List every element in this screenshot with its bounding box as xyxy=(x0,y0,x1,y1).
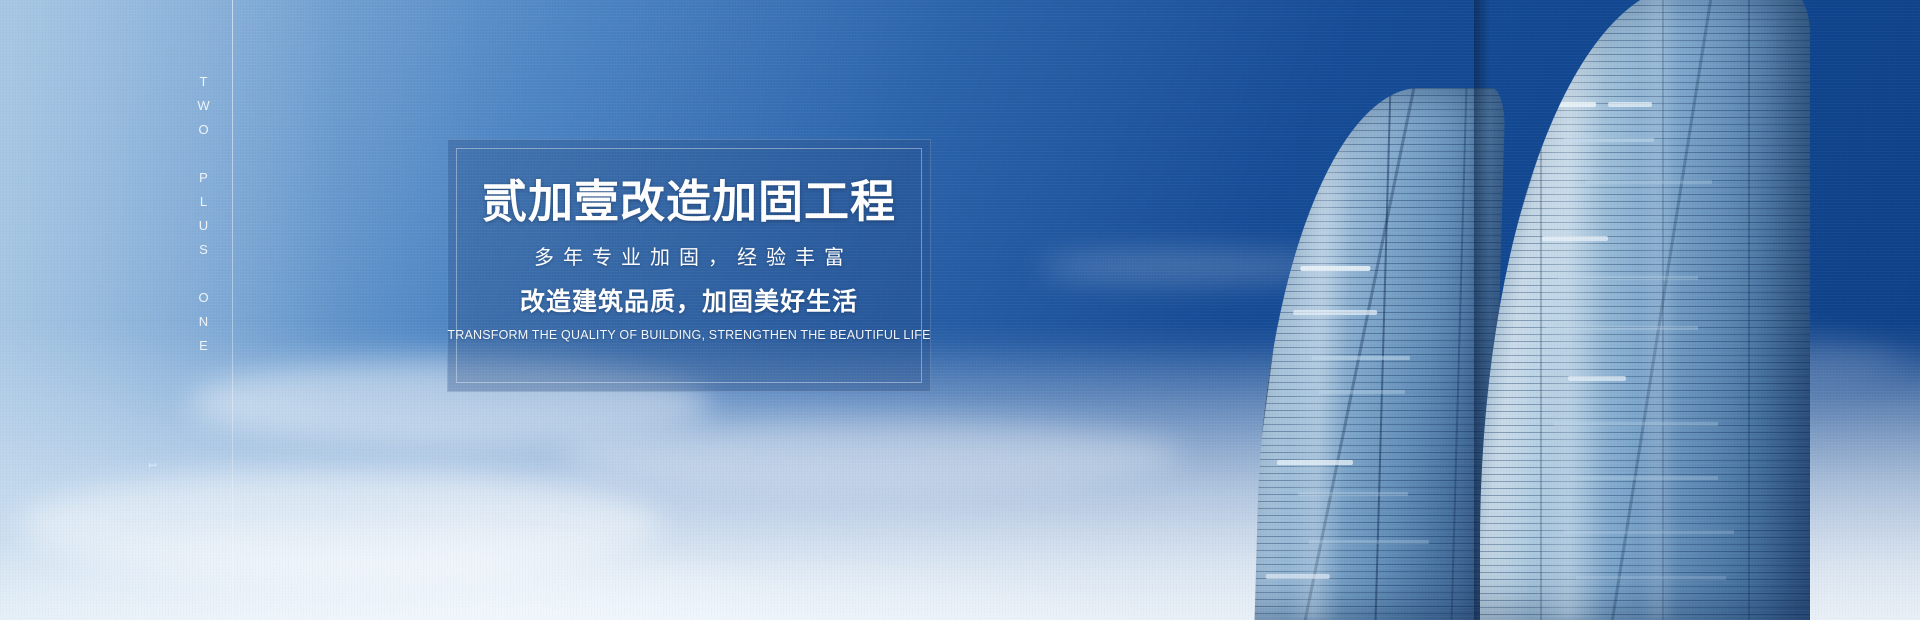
skyscrapers xyxy=(1050,0,1920,620)
brand-divider-rule xyxy=(232,0,233,620)
headline-panel: 贰加壹改造加固工程 多年专业加固，经验丰富 改造建筑品质，加固美好生活 TRAN… xyxy=(447,139,931,392)
headline-tagline: 改造建筑品质，加固美好生活 xyxy=(447,290,931,315)
skyscraper-right xyxy=(1480,0,1810,620)
skyscraper-left xyxy=(1255,88,1506,620)
brand-vertical-text: TWO PLUS ONE xyxy=(174,74,210,362)
panel-content: 贰加壹改造加固工程 多年专业加固，经验丰富 改造建筑品质，加固美好生活 TRAN… xyxy=(447,139,931,342)
headline-subtitle: 多年专业加固，经验丰富 xyxy=(447,248,931,268)
headline-title: 贰加壹改造加固工程 xyxy=(447,179,931,224)
brand-index-number: 1 xyxy=(146,462,158,470)
headline-english-subtitle: TRANSFORM THE QUALITY OF BUILDING, STREN… xyxy=(447,329,931,342)
cloud-wisp xyxy=(20,470,660,580)
hero-banner: TWO PLUS ONE 1 贰加壹改造加固工程 多年专业加固，经验丰富 改造建… xyxy=(0,0,1920,620)
